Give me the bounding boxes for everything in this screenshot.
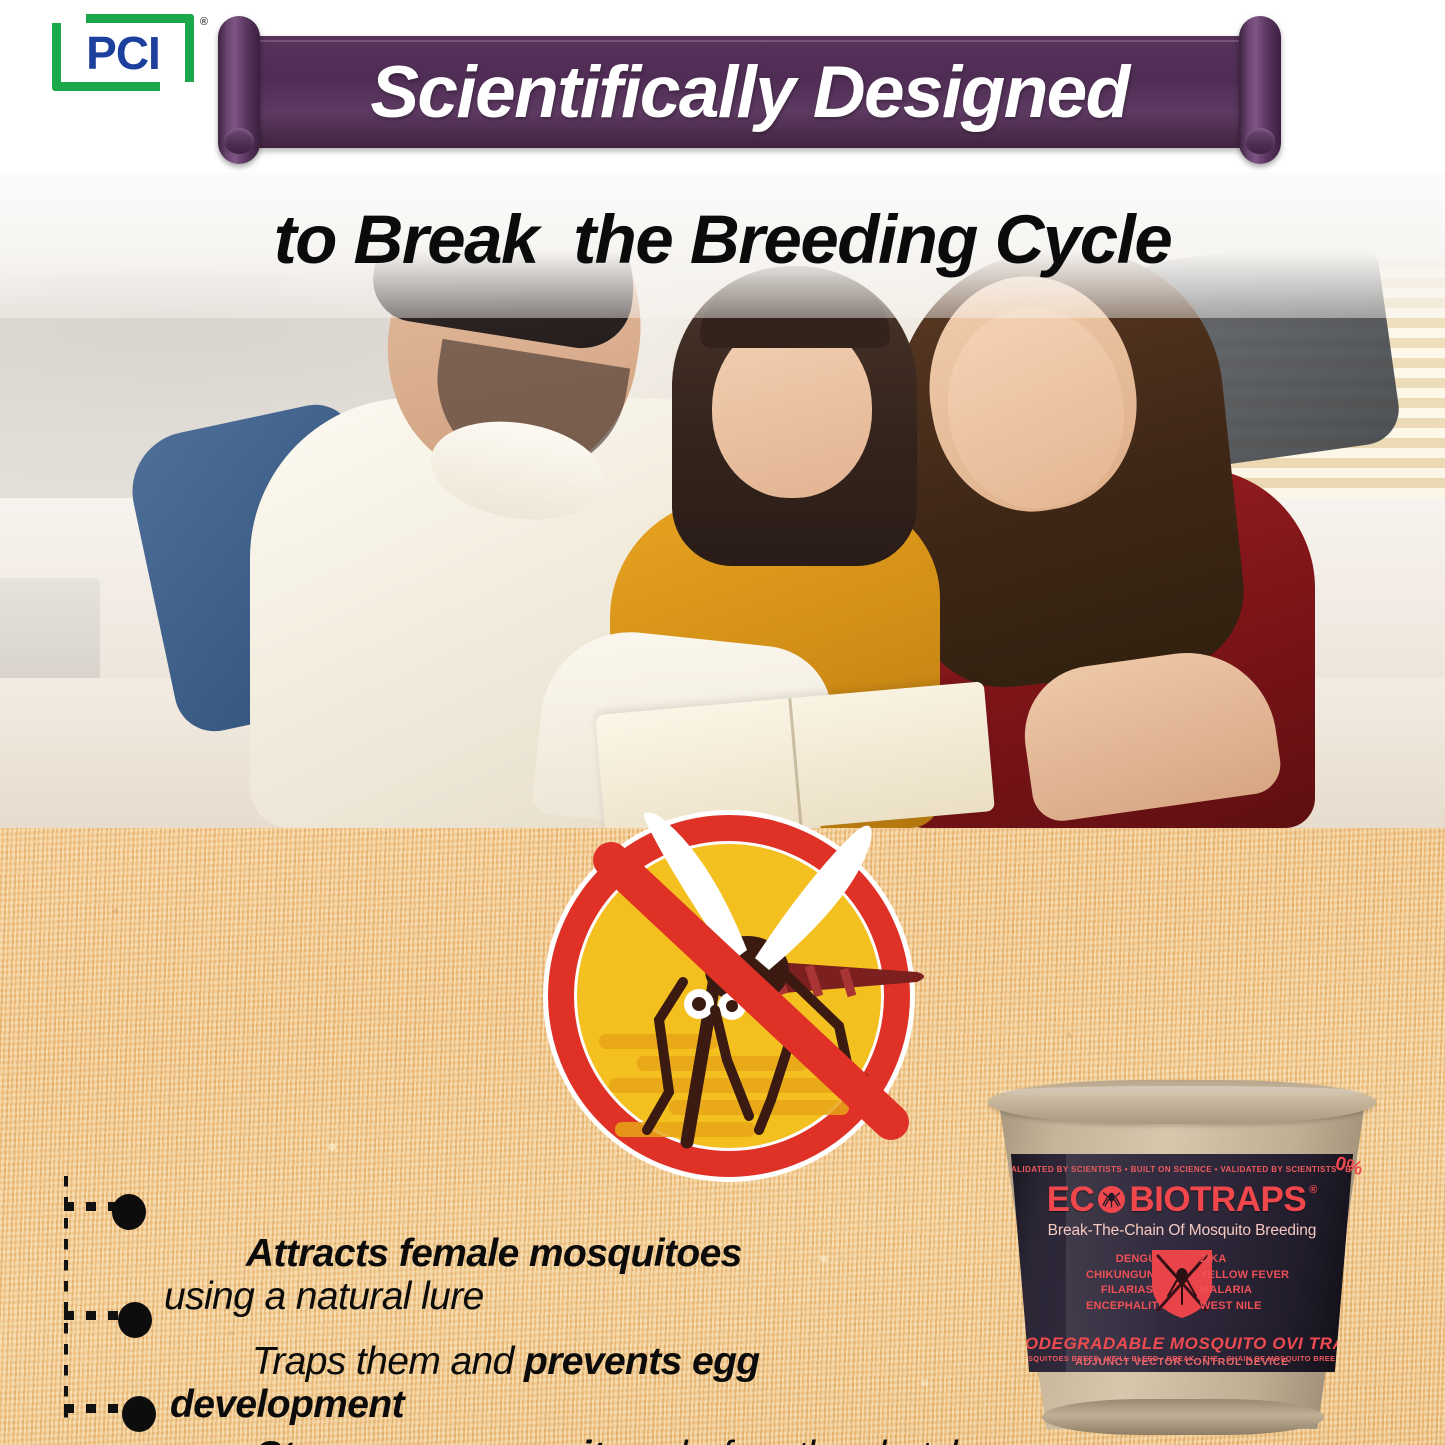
bullet-dot-icon [122, 1396, 156, 1432]
product-brand-lockup: EC BIOTRAPS ® [1000, 1182, 1364, 1217]
banner-title-text: Scientifically Designed [244, 36, 1255, 148]
bullet-bold-1: Attracts female mosquitoes [246, 1232, 742, 1275]
brand-word-eco: EC [1047, 1182, 1095, 1217]
cup-base [1042, 1399, 1324, 1435]
pci-registered-mark: ® [200, 16, 208, 28]
family-hero-photo: to Break the Breeding Cycle [0, 168, 1445, 828]
pci-logo: PCI ® [52, 14, 194, 91]
product-tagline: Break-The-Chain Of Mosquito Breeding [1000, 1222, 1364, 1240]
product-cup-image: • VALIDATED BY SCIENTISTS • BUILT ON SCI… [982, 1062, 1382, 1445]
cup-rim [988, 1080, 1376, 1124]
label-marquee-top: • VALIDATED BY SCIENTISTS • BUILT ON SCI… [1000, 1165, 1364, 1174]
bullet-bold-3: Stops new mosquitoes [256, 1434, 669, 1445]
pci-logo-text: PCI [52, 30, 194, 76]
header-bar: PCI ® Scientifically Designed [0, 0, 1445, 172]
product-label: • VALIDATED BY SCIENTISTS • BUILT ON SCI… [1000, 1154, 1364, 1372]
product-certification-main: BIODEGRADABLE MOSQUITO OVI TRAP [1000, 1334, 1364, 1354]
bullet-text: Stops new mosquitoes before they hatch [174, 1390, 970, 1445]
dotted-connector-line [64, 1176, 68, 1428]
cup-body: • VALIDATED BY SCIENTISTS • BUILT ON SCI… [994, 1084, 1370, 1429]
bullet-dot-icon [118, 1302, 152, 1338]
diseases-right-list: ZIKA YELLOW FEVER MALARIA WEST NILE [1200, 1252, 1292, 1314]
benefit-bullet-list: Attracts female mosquitoes using a natur… [0, 1168, 1000, 1438]
bullet-dot-icon [112, 1194, 146, 1230]
bullet-rest-3: before they hatch [669, 1434, 970, 1445]
brand-registered-mark: ® [1309, 1184, 1317, 1196]
mosquito-in-circle-icon [1098, 1186, 1125, 1213]
no-mosquito-icon [519, 810, 940, 1182]
label-marquee-bottom: • IF MOSQUITOES BREED, WE'LL BLEED • BRE… [1000, 1354, 1364, 1363]
poster-root: to Break the Breeding Cycle [0, 0, 1445, 1445]
bullet-item-stop: Stops new mosquitoes before they hatch [122, 1390, 1002, 1445]
brand-word-biotraps: BIOTRAPS [1129, 1182, 1306, 1217]
subtitle-text: to Break the Breeding Cycle [0, 200, 1445, 279]
scroll-banner: Scientifically Designed [218, 16, 1281, 164]
bullet-rest-2: Traps them and [252, 1340, 524, 1383]
